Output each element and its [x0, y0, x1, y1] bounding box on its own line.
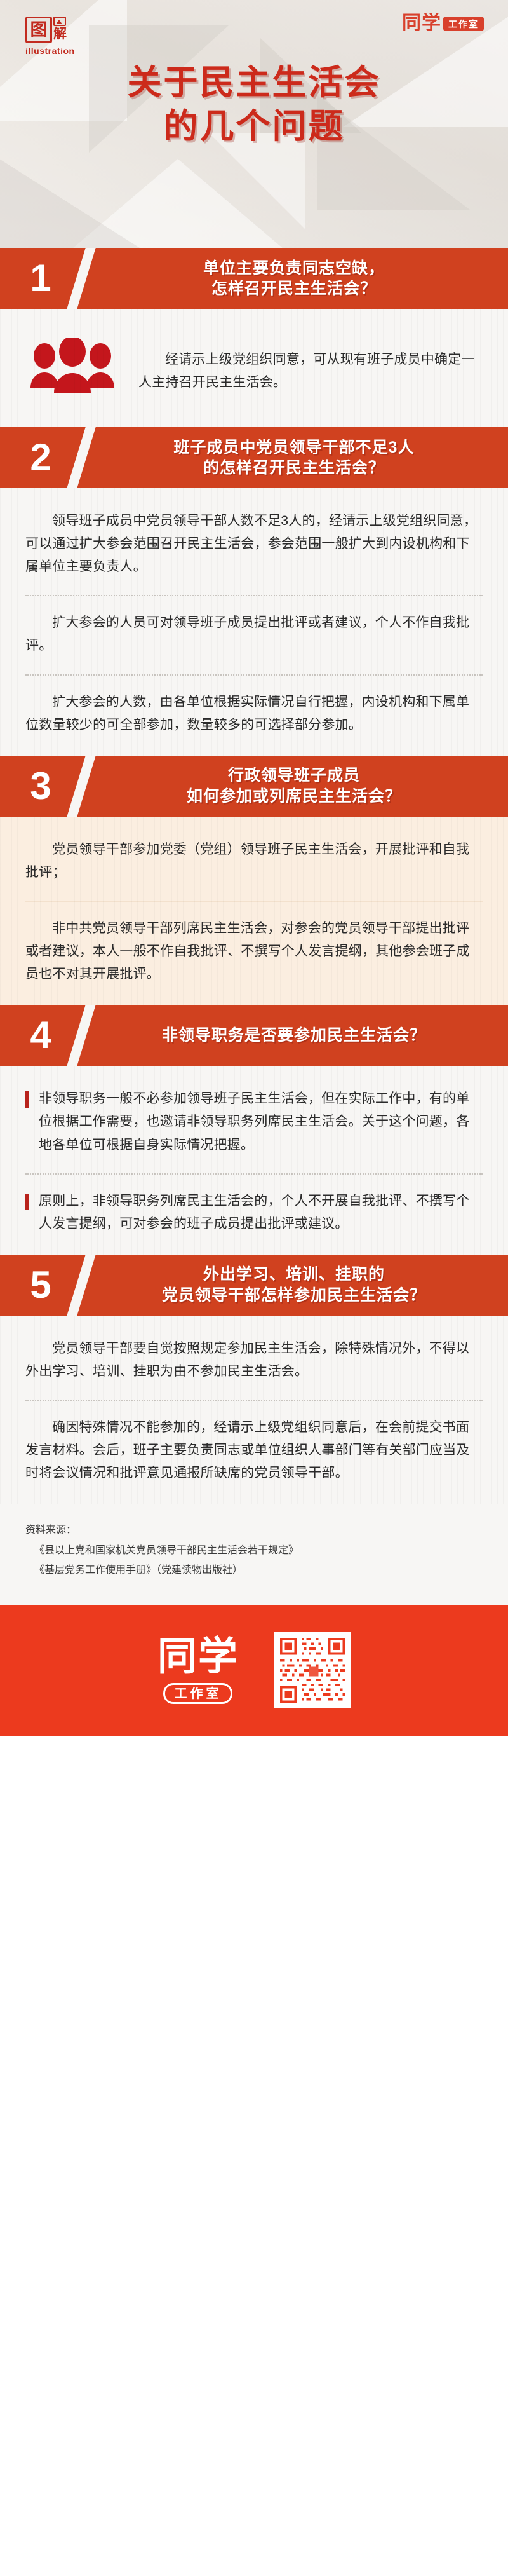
- body-paragraph: 党员领导干部参加党委（党组）领导班子民主生活会，开展批评和自我批评；: [25, 838, 483, 884]
- paragraph-divider: [25, 674, 483, 676]
- section-question-line: 党员领导干部怎样参加民主生活会？: [97, 1285, 491, 1306]
- bullet-paragraph-row: 非领导职务一般不必参加领导班子民主生活会，但在实际工作中，有的单位根据工作需要，…: [25, 1087, 483, 1156]
- bullet-marker-icon: [25, 1194, 29, 1210]
- body-paragraph: 原则上，非领导职务列席民主生活会的，个人不开展自我批评、不撰写个人发言提纲，可对…: [39, 1190, 483, 1236]
- section-header-4: 4非领导职务是否要参加民主生活会？: [0, 1005, 508, 1066]
- page-title-line-1: 关于民主生活会: [0, 61, 508, 105]
- body-paragraph: 非中共党员领导干部列席民主生活会，对参会的党员领导干部提出批评或者建议，本人一般…: [25, 917, 483, 986]
- section-body-5: 党员领导干部要自觉按照规定参加民主生活会，除特殊情况外，不得以外出学习、培训、挂…: [0, 1316, 508, 1504]
- section-header-1: 1单位主要负责同志空缺，怎样召开民主生活会？: [0, 248, 508, 309]
- bullet-paragraph-row: 原则上，非领导职务列席民主生活会的，个人不开展自我批评、不撰写个人发言提纲，可对…: [25, 1190, 483, 1236]
- body-paragraph: 领导班子成员中党员领导干部人数不足3人的，经请示上级党组织同意，可以通过扩大参会…: [25, 510, 483, 578]
- section-number: 1: [0, 259, 81, 297]
- section-question-line: 的怎样召开民主生活会？: [97, 458, 491, 479]
- source-label: 资料来源：: [25, 1520, 483, 1540]
- body-paragraph: 党员领导干部要自觉按照规定参加民主生活会，除特殊情况外，不得以外出学习、培训、挂…: [25, 1337, 483, 1383]
- paragraph-divider: [25, 595, 483, 596]
- studio-logo-header: 同学 工作室: [402, 14, 484, 33]
- hero-banner: 图 解 illustration 同学 工作室 关于民主生活会 的几个问题: [0, 0, 508, 248]
- section-question: 外出学习、培训、挂职的党员领导干部怎样参加民主生活会？: [81, 1264, 508, 1305]
- section-question: 单位主要负责同志空缺，怎样召开民主生活会？: [81, 258, 508, 299]
- studio-logo-tag: 工作室: [443, 17, 484, 31]
- section-header-2: 2班子成员中党员领导干部不足3人的怎样召开民主生活会？: [0, 427, 508, 488]
- section-header-5: 5外出学习、培训、挂职的党员领导干部怎样参加民主生活会？: [0, 1255, 508, 1316]
- section-question: 班子成员中党员领导干部不足3人的怎样召开民主生活会？: [81, 437, 508, 479]
- section-question-line: 班子成员中党员领导干部不足3人: [97, 437, 491, 458]
- illustration-logo-char-tu: 图: [25, 17, 52, 43]
- footer-bar: 同学 工作室: [0, 1605, 508, 1736]
- page-title: 关于民主生活会 的几个问题: [0, 61, 508, 149]
- studio-logo-footer: 同学 工作室: [157, 1637, 239, 1704]
- source-item: 《县以上党和国家机关党员领导干部民主生活会若干规定》: [25, 1541, 483, 1560]
- section-question-line: 如何参加或列席民主生活会？: [97, 786, 491, 807]
- source-block: 资料来源： 《县以上党和国家机关党员领导干部民主生活会若干规定》 《基层党务工作…: [0, 1504, 508, 1605]
- section-header-3: 3行政领导班子成员如何参加或列席民主生活会？: [0, 756, 508, 817]
- paragraph-divider: [25, 901, 483, 902]
- section-body-1: 经请示上级党组织同意，可从现有班子成员中确定一人主持召开民主生活会。: [0, 309, 508, 427]
- section-question-line: 外出学习、培训、挂职的: [97, 1264, 491, 1285]
- section-question: 行政领导班子成员如何参加或列席民主生活会？: [81, 765, 508, 807]
- illustration-logo-word: illustration: [25, 46, 75, 56]
- sections-container: 1单位主要负责同志空缺，怎样召开民主生活会？ 经请示上级党组织同意，可从现有班子…: [0, 248, 508, 1504]
- illustration-logo-char-jie: 解: [53, 27, 67, 41]
- studio-logo-footer-name: 同学: [157, 1637, 239, 1677]
- section-body-2: 领导班子成员中党员领导干部人数不足3人的，经请示上级党组织同意，可以通过扩大参会…: [0, 488, 508, 756]
- section-number: 4: [0, 1016, 81, 1054]
- studio-logo-footer-tag: 工作室: [163, 1683, 232, 1704]
- section-question-line: 怎样召开民主生活会？: [97, 278, 491, 299]
- studio-logo-name: 同学: [402, 14, 441, 33]
- bullet-marker-icon: [25, 1091, 29, 1108]
- section-question: 非领导职务是否要参加民主生活会？: [81, 1025, 508, 1046]
- section-number: 2: [0, 439, 81, 477]
- body-paragraph: 扩大参会的人数，由各单位根据实际情况自行把握，内设机构和下属单位数量较少的可全部…: [25, 691, 483, 737]
- infographic-page: 图 解 illustration 同学 工作室 关于民主生活会 的几个问题 1单…: [0, 0, 508, 1736]
- page-title-line-2: 的几个问题: [0, 105, 508, 149]
- source-item: 《基层党务工作使用手册》（党建读物出版社）: [25, 1560, 483, 1580]
- paragraph-divider: [25, 1173, 483, 1175]
- picture-icon: [53, 17, 66, 26]
- body-paragraph: 扩大参会的人员可对领导班子成员提出批评或者建议，个人不作自我批评。: [25, 611, 483, 657]
- section-body-3: 党员领导干部参加党委（党组）领导班子民主生活会，开展批评和自我批评；非中共党员领…: [0, 817, 508, 1005]
- section-question-line: 非领导职务是否要参加民主生活会？: [97, 1025, 491, 1046]
- people-group-icon: [25, 338, 121, 404]
- section-body-4: 非领导职务一般不必参加领导班子民主生活会，但在实际工作中，有的单位根据工作需要，…: [0, 1066, 508, 1255]
- paragraph-divider: [25, 1400, 483, 1401]
- section-question-line: 行政领导班子成员: [97, 765, 491, 786]
- icon-text-row: 经请示上级党组织同意，可从现有班子成员中确定一人主持召开民主生活会。: [25, 331, 483, 408]
- body-paragraph: 经请示上级党组织同意，可从现有班子成员中确定一人主持召开民主生活会。: [138, 348, 483, 394]
- section-number: 5: [0, 1266, 81, 1304]
- body-paragraph: 确因特殊情况不能参加的，经请示上级党组织同意后，在会前提交书面发言材料。会后，班…: [25, 1416, 483, 1485]
- illustration-logo: 图 解 illustration: [25, 17, 75, 56]
- body-paragraph: 非领导职务一般不必参加领导班子民主生活会，但在实际工作中，有的单位根据工作需要，…: [39, 1087, 483, 1156]
- qr-code-icon[interactable]: [274, 1632, 351, 1708]
- section-question-line: 单位主要负责同志空缺，: [97, 258, 491, 279]
- section-number: 3: [0, 767, 81, 805]
